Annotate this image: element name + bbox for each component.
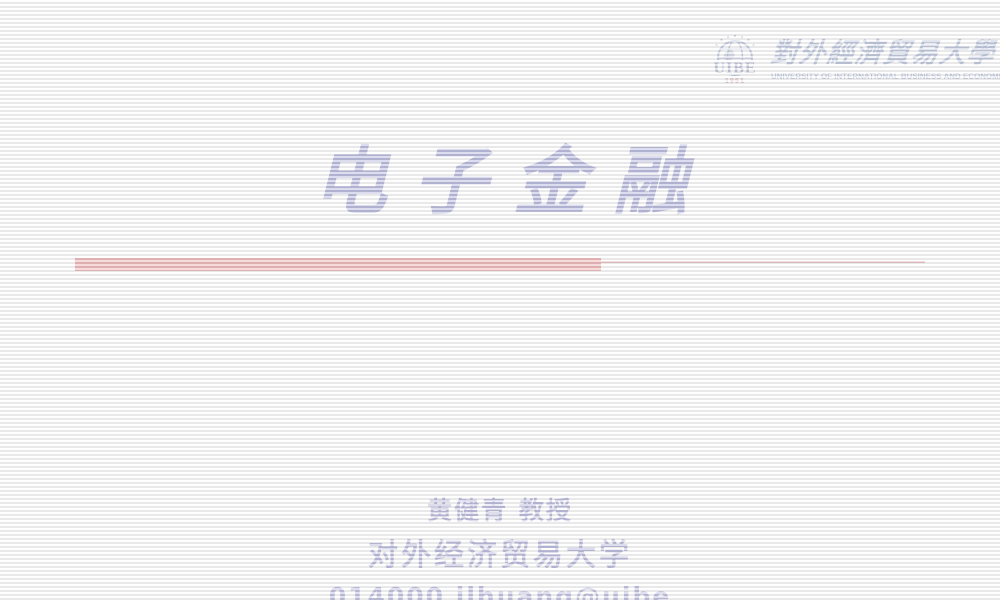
- divider-red-bar: [75, 258, 601, 271]
- presenter-name: 黄健青 教授: [0, 490, 1000, 532]
- logo-wordmark-group: 對外經濟貿易大學 UNIVERSITY OF INTERNATIONAL BUS…: [771, 31, 1000, 89]
- presenter-affiliation: 对外经济贸易大学: [0, 532, 1000, 580]
- slide-title: 电子金融: [0, 134, 1000, 230]
- presenter-contact: 014000 jlhuang@uibe: [0, 580, 1000, 600]
- uibe-globe-emblem-icon: UIBE 1951: [706, 31, 764, 89]
- university-logo: UIBE 1951 對外經濟貿易大學 UNIVERSITY OF INTERNA…: [706, 28, 974, 92]
- logo-english-name: UNIVERSITY OF INTERNATIONAL BUSINESS AND…: [771, 71, 1000, 81]
- svg-text:1951: 1951: [725, 78, 745, 85]
- slide-footer: 黄健青 教授 对外经济贸易大学 014000 jlhuang@uibe: [0, 490, 1000, 600]
- slide-title-text: 电子金融: [0, 134, 1000, 230]
- logo-chinese-name: 對外經濟貿易大學: [769, 39, 1000, 69]
- svg-text:UIBE: UIBE: [713, 60, 756, 77]
- presentation-slide: UIBE 1951 對外經濟貿易大學 UNIVERSITY OF INTERNA…: [0, 0, 1000, 600]
